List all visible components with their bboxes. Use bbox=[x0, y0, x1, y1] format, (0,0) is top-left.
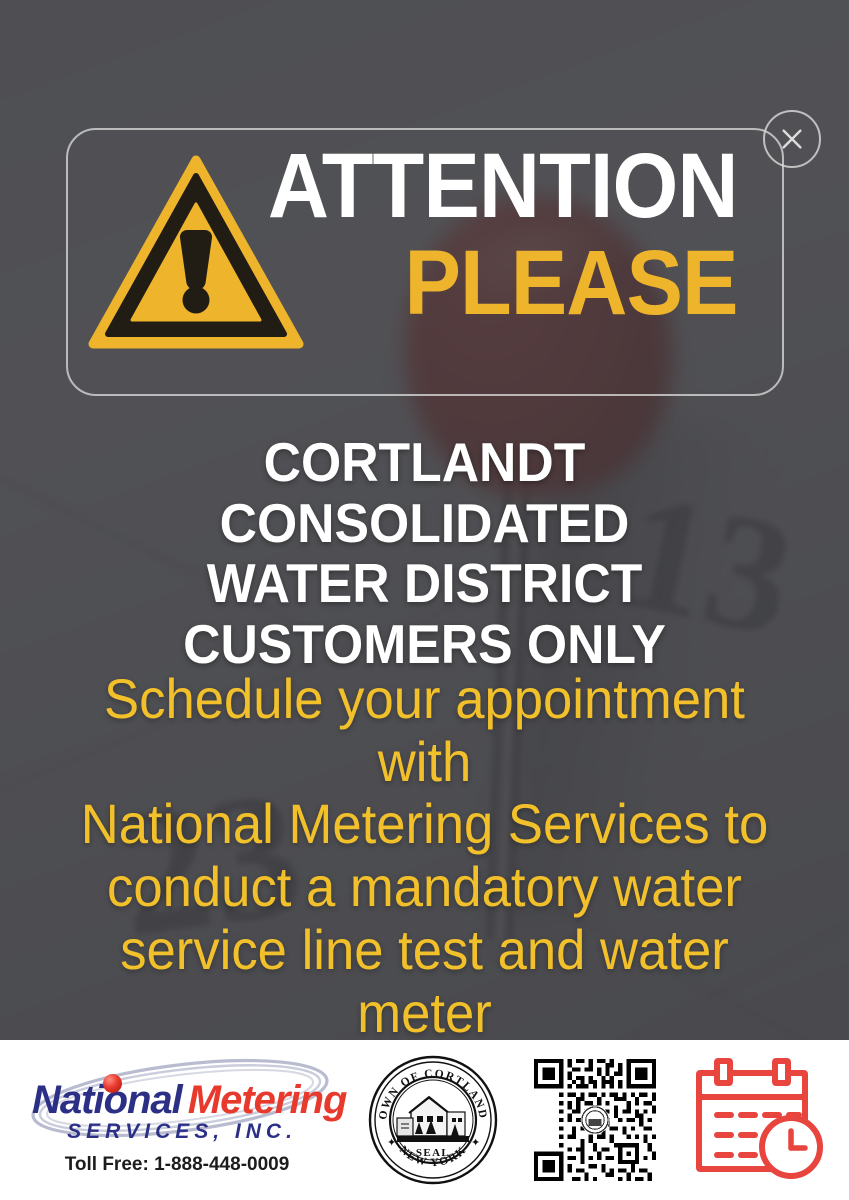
toll-free-phone: Toll Free: 1-888-448-0009 bbox=[22, 1154, 332, 1176]
logo-red-sphere-icon bbox=[103, 1074, 122, 1093]
svg-text:✦: ✦ bbox=[387, 1137, 396, 1149]
town-of-cortlandt-seal-icon: TOWN OF CORTLANDT NEW YORK ✦ ✦ bbox=[367, 1054, 499, 1186]
national-metering-services-logo[interactable]: NationalMetering SERVICES, INC. Toll Fre… bbox=[22, 1050, 332, 1190]
svg-text:✦: ✦ bbox=[471, 1137, 480, 1149]
close-x-icon bbox=[765, 112, 819, 166]
footer-bar: NationalMetering SERVICES, INC. Toll Fre… bbox=[0, 1040, 849, 1200]
page-title: CORTLANDT CONSOLIDATED WATER DISTRICT CU… bbox=[0, 432, 849, 674]
attention-notice-poster: 13 23 bbox=[0, 0, 849, 1200]
calendar-clock-icon[interactable] bbox=[691, 1057, 827, 1183]
qr-code-icon[interactable] bbox=[534, 1059, 656, 1181]
attention-banner: ATTENTION PLEASE bbox=[66, 128, 784, 396]
logo-subtitle: SERVICES, INC. bbox=[32, 1120, 332, 1144]
attention-text-block: ATTENTION PLEASE bbox=[227, 146, 738, 324]
svg-text:SEAL: SEAL bbox=[416, 1147, 450, 1159]
attention-banner-inner: ATTENTION PLEASE bbox=[68, 130, 782, 394]
attention-line-2: PLEASE bbox=[268, 243, 738, 324]
logo-word-metering: Metering bbox=[188, 1078, 347, 1122]
close-button[interactable] bbox=[763, 110, 821, 168]
logo-wordmark: NationalMetering bbox=[32, 1078, 332, 1123]
body-line-3: conduct a mandatory water bbox=[77, 856, 772, 919]
body-line-2: National Metering Services to bbox=[77, 793, 772, 856]
warning-triangle-exclamation-icon bbox=[88, 152, 304, 352]
headline-line-1: CORTLANDT CONSOLIDATED bbox=[52, 432, 797, 553]
attention-line-1: ATTENTION bbox=[268, 146, 738, 227]
body-line-1: Schedule your appointment with bbox=[77, 668, 772, 793]
headline-line-3: CUSTOMERS ONLY bbox=[52, 614, 797, 675]
body-line-4: service line test and water meter bbox=[77, 919, 772, 1044]
headline-line-2: WATER DISTRICT bbox=[52, 553, 797, 614]
